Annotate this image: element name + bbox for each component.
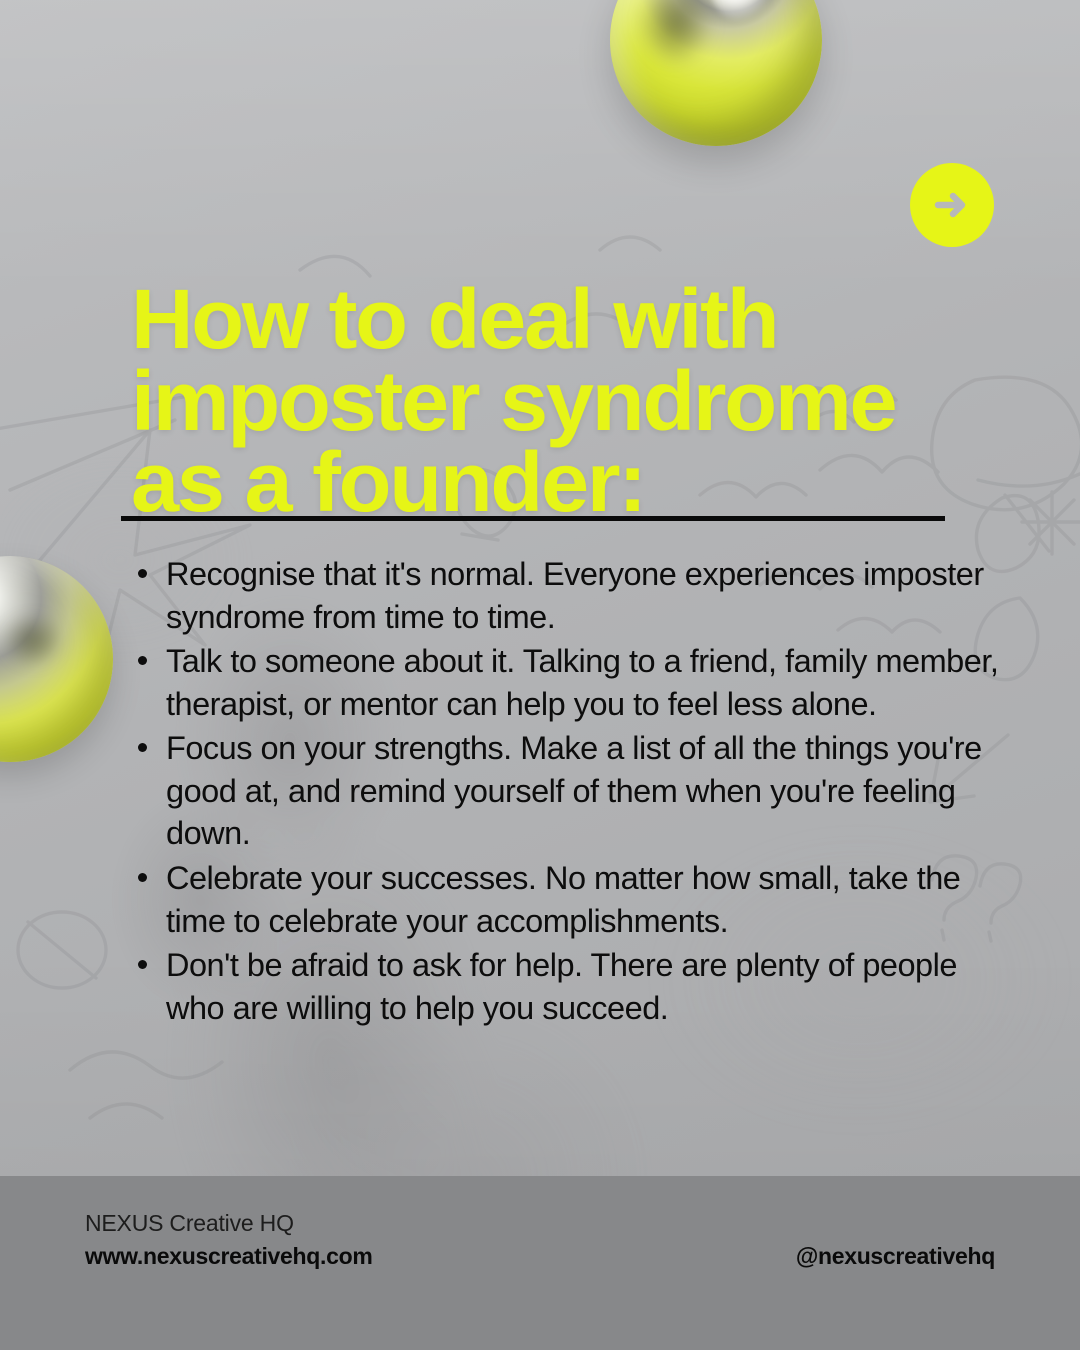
next-slide-button[interactable] bbox=[910, 163, 994, 247]
list-item: Focus on your strengths. Make a list of … bbox=[128, 727, 1008, 855]
list-item: Recognise that it's normal. Everyone exp… bbox=[128, 553, 1008, 638]
social-post-canvas: How to deal with imposter syndrome as a … bbox=[0, 0, 1080, 1350]
title-line-2: imposter syndrome bbox=[131, 361, 1017, 442]
page-title: How to deal with imposter syndrome as a … bbox=[131, 279, 1017, 523]
title-divider bbox=[121, 516, 945, 521]
footer-brand-name: NEXUS Creative HQ bbox=[85, 1210, 294, 1237]
tips-list: Recognise that it's normal. Everyone exp… bbox=[128, 553, 1008, 1031]
footer-website[interactable]: www.nexuscreativehq.com bbox=[85, 1243, 373, 1270]
list-item: Don't be afraid to ask for help. There a… bbox=[128, 944, 1008, 1029]
footer-social-handle[interactable]: @nexuscreativehq bbox=[796, 1243, 995, 1270]
arrow-right-icon bbox=[928, 181, 976, 229]
list-item: Talk to someone about it. Talking to a f… bbox=[128, 640, 1008, 725]
title-line-1: How to deal with bbox=[131, 279, 1017, 360]
title-line-3: as a founder: bbox=[131, 442, 1017, 523]
list-item: Celebrate your successes. No matter how … bbox=[128, 857, 1008, 942]
